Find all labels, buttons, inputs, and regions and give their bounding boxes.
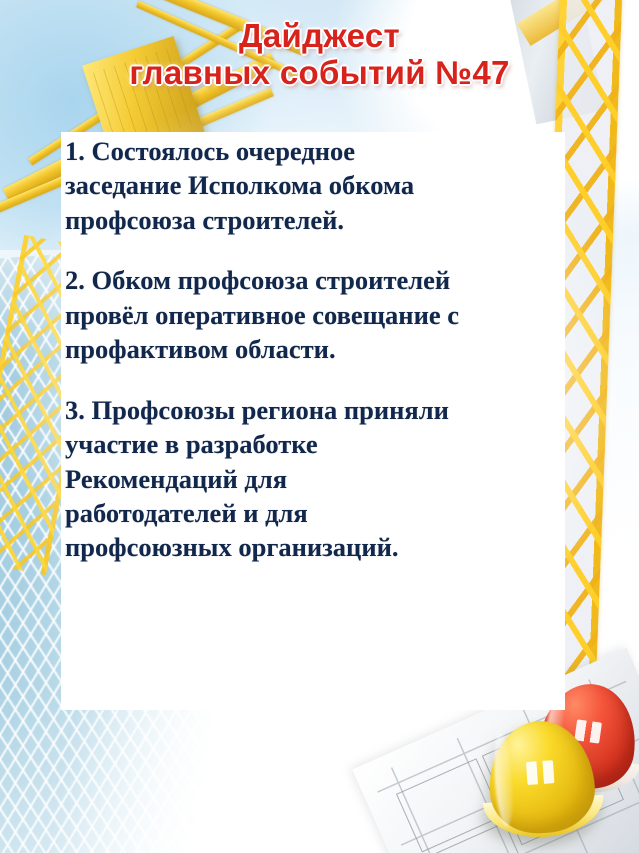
page-title: Дайджест главных событий №47 — [0, 18, 639, 92]
digest-poster: Дайджест главных событий №47 1. Состояло… — [0, 0, 639, 853]
digest-list: 1. Состоялось очередное заседание Исполк… — [65, 134, 565, 565]
digest-item-2: 2. Обком профсоюза строителей провёл опе… — [65, 263, 565, 366]
hard-hat-yellow — [485, 717, 598, 836]
digest-item-3: 3. Профсоюзы региона приняли участие в р… — [65, 393, 565, 565]
digest-item-1: 1. Состоялось очередное заседание Исполк… — [65, 134, 565, 237]
